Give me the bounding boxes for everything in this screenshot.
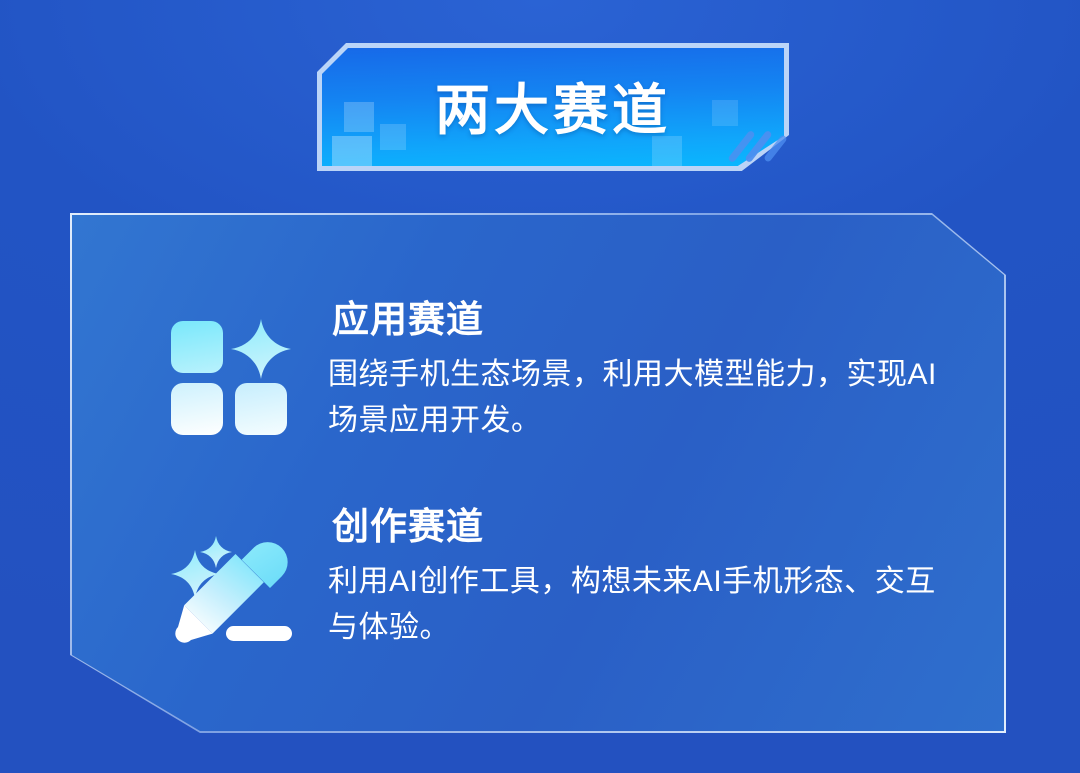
- section-heading-text: 应用赛道: [332, 299, 484, 340]
- grid-square: [235, 383, 287, 435]
- tracks-card: 应用赛道 围绕手机生态场景，利用大模型能力，实现AI场景应用开发。: [70, 213, 1006, 733]
- section-body-application: 围绕手机生态场景，利用大模型能力，实现AI场景应用开发。: [328, 352, 966, 443]
- track-text-cell: 应用赛道 围绕手机生态场景，利用大模型能力，实现AI场景应用开发。: [328, 299, 1006, 444]
- track-icon-cell: [138, 506, 328, 650]
- track-text-cell: 创作赛道 利用AI创作工具，构想未来AI手机形态、交互与体验。: [328, 506, 1006, 651]
- app-grid-sparkle-icon: [171, 321, 295, 433]
- track-section-application: 应用赛道 围绕手机生态场景，利用大模型能力，实现AI场景应用开发。: [138, 299, 1006, 444]
- diagonal-slashes-icon: [738, 128, 798, 168]
- magic-pen-glyph: [169, 528, 297, 650]
- section-heading-text: 创作赛道: [332, 506, 484, 547]
- magic-pen-icon: [169, 528, 297, 650]
- grid-square: [171, 383, 223, 435]
- sparkle-icon: [229, 317, 293, 381]
- track-icon-cell: [138, 299, 328, 433]
- section-body-creation: 利用AI创作工具，构想未来AI手机形态、交互与体验。: [328, 559, 966, 650]
- section-heading-creation: 创作赛道: [328, 506, 488, 549]
- track-section-creation: 创作赛道 利用AI创作工具，构想未来AI手机形态、交互与体验。: [138, 506, 1006, 651]
- section-heading-application: 应用赛道: [328, 299, 488, 342]
- banner-title-text: 两大赛道: [322, 48, 784, 166]
- grid-square: [171, 321, 223, 373]
- title-banner: 两大赛道: [322, 48, 784, 166]
